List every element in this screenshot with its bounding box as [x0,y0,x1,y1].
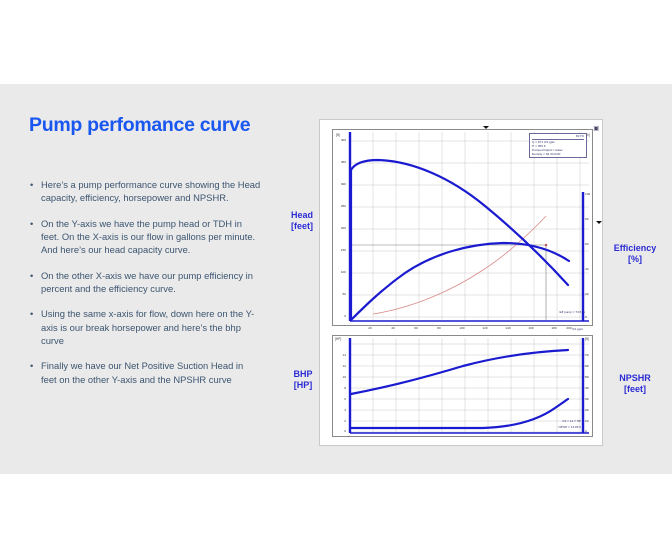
flow-tick: 100 [456,327,468,330]
bullet-marker: • [30,217,33,230]
bhp-tick: 8 [333,387,346,390]
head-tick: 200 [333,227,346,230]
efficiency-tick: 40 [585,268,588,271]
callout-head-line2: [feet] [283,221,321,232]
npshr-tick: 0 [585,430,587,433]
list-item-text: On the other X-axis we have our pump eff… [41,270,253,294]
callout-npshr: NPSHR [feet] [604,373,666,395]
flow-tick: 180 [548,327,560,330]
head-axis-unit: [ft] [336,134,340,137]
flow-tick: 140 [502,327,514,330]
npshr-tick: 70 [585,354,588,357]
flow-tick: 160 [525,327,537,330]
bhp-tick: 14 [333,354,346,357]
duty-point-marker [545,244,548,247]
efficiency-readout: Eff pump = 73.5 % [523,310,585,314]
npshr-tick: 60 [585,365,588,368]
bhp-tick: 12 [333,365,346,368]
bhp-axis-unit: [HP] [335,338,341,341]
callout-head-line1: Head [283,210,321,221]
efficiency-tick: 80 [585,218,588,221]
flow-tick: 120 [479,327,491,330]
power-readout: P2 = 14.7 HP [523,419,581,423]
npsh-readout: NPSH = 13.86 ft [523,425,581,429]
bullet-marker: • [30,307,33,320]
bhp-tick: 10 [333,376,346,379]
bhp-tick: 4 [333,409,346,412]
flow-tick: 60 [410,327,422,330]
bhp-tick: 0 [333,430,346,433]
head-tick: 100 [333,271,346,274]
head-efficiency-plot [333,130,592,325]
head-tick: 300 [333,183,346,186]
flow-tick: 80 [433,327,445,330]
list-item: • On the Y-axis we have the pump head or… [29,217,261,257]
slide: Pump perfomance curve • Here’s a pump pe… [0,0,672,558]
head-efficiency-panel: [ft] 400 350 300 250 200 150 100 50 0 [%… [332,129,593,326]
corner-glyph-icon: ▣ [593,126,599,132]
list-item: • Here’s a pump performance curve showin… [29,178,261,205]
side-marker-icon [596,221,602,224]
callout-efficiency: Efficiency [%] [604,243,666,265]
bhp-npshr-panel: [HP] 14 12 10 8 6 4 2 0 [ft] 70 60 50 40… [332,335,593,437]
npshr-tick: 10 [585,420,588,423]
bhp-tick: 2 [333,420,346,423]
flow-tick: 40 [387,327,399,330]
callout-npshr-line2: [feet] [604,384,666,395]
operating-conditions-infobox: 60 Hz Q = 671 US gpm H = 350 ft Pumped l… [529,133,587,158]
flow-tick: 20 [364,327,376,330]
head-tick: 250 [333,205,346,208]
npshr-tick: 40 [585,387,588,390]
list-item: • Finally we have our Net Positive Sucti… [29,359,261,386]
list-item-text: Using the same x-axis for flow, down her… [41,308,254,346]
callout-efficiency-line1: Efficiency [604,243,666,254]
head-tick: 50 [333,293,346,296]
efficiency-tick: 100 [585,193,590,196]
npshr-axis-unit: [ft] [585,338,589,341]
list-item: • On the other X-axis we have our pump e… [29,269,261,296]
bullet-marker: • [30,359,33,372]
list-item: • Using the same x-axis for flow, down h… [29,307,261,347]
list-item-text: Here’s a pump performance curve showing … [41,179,260,203]
efficiency-tick: 60 [585,243,588,246]
bullet-list: • Here’s a pump performance curve showin… [29,178,261,398]
head-tick: 150 [333,249,346,252]
flow-axis-unit: US gpm [572,327,583,331]
bullet-marker: • [30,178,33,191]
callout-npshr-line1: NPSHR [604,373,666,384]
page-title: Pump perfomance curve [29,114,279,136]
npshr-tick: 50 [585,376,588,379]
head-tick: 0 [333,315,346,318]
head-tick: 400 [333,139,346,142]
infobox-line: Density = 62.34 lb/ft³ [532,152,584,156]
pump-curve-chart: ▣ [319,119,603,446]
efficiency-tick: 0 [585,316,587,319]
bhp-tick: 6 [333,398,346,401]
npshr-tick: 30 [585,398,588,401]
bullet-marker: • [30,269,33,282]
list-item-text: On the Y-axis we have the pump head or T… [41,218,255,256]
callout-efficiency-line2: [%] [604,254,666,265]
callout-bhp-line1: BHP [285,369,321,380]
callout-head: Head [feet] [283,210,321,232]
list-item-text: Finally we have our Net Positive Suction… [41,360,243,384]
callout-bhp: BHP [HP] [285,369,321,391]
callout-bhp-line2: [HP] [285,380,321,391]
head-tick: 350 [333,161,346,164]
efficiency-tick: 20 [585,293,588,296]
npshr-tick: 20 [585,409,588,412]
